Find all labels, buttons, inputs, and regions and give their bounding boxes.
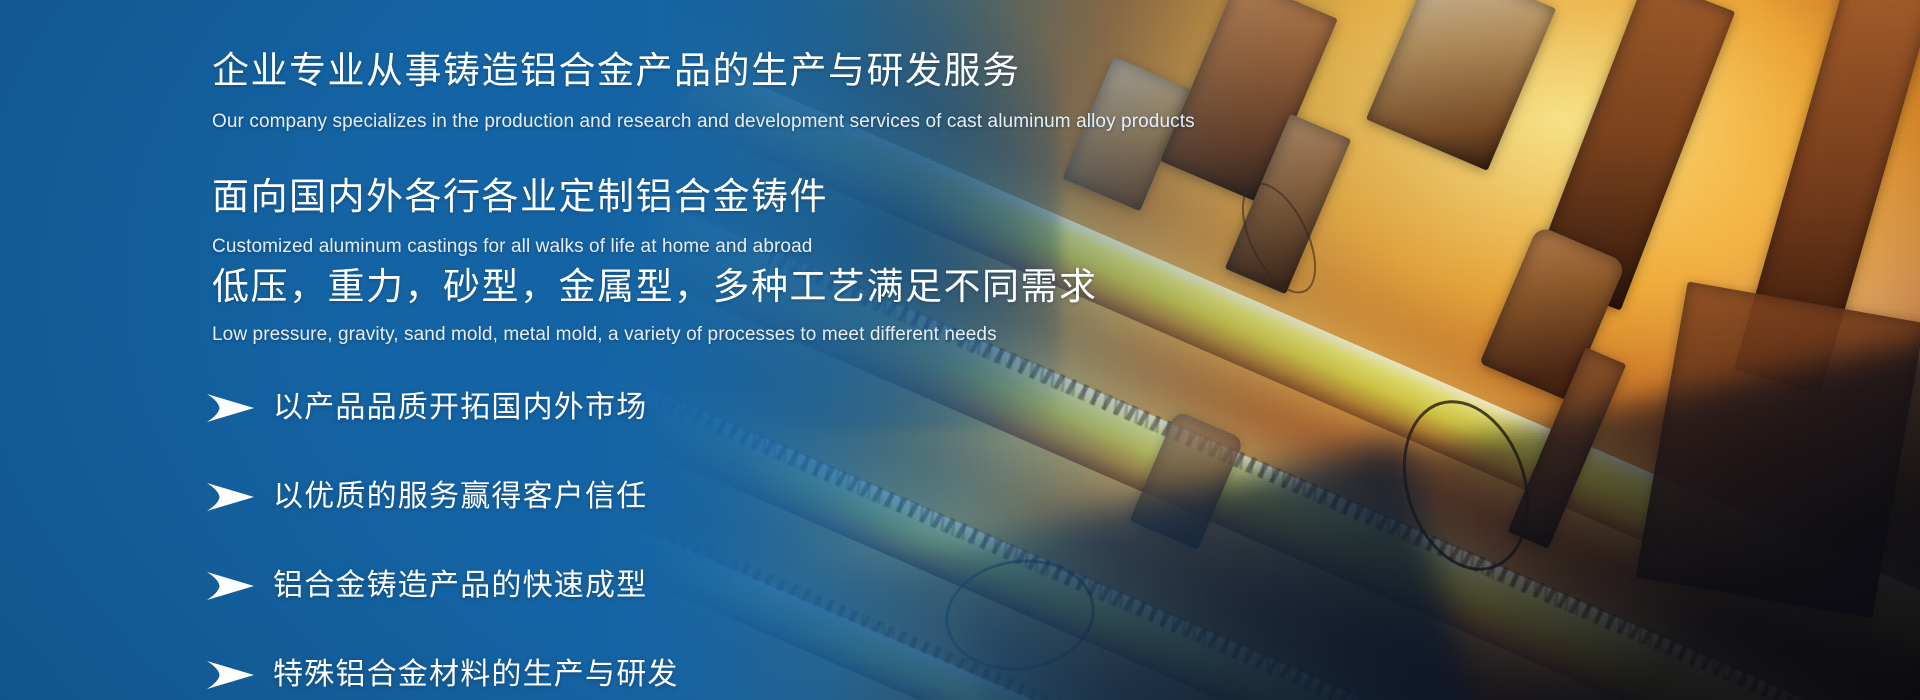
list-item: 特殊铝合金材料的生产与研发 [205, 652, 965, 697]
arrow-right-icon [205, 571, 255, 601]
list-item-label: 特殊铝合金材料的生产与研发 [273, 660, 679, 690]
list-item-label: 以优质的服务赢得客户信任 [273, 482, 647, 512]
banner-content: 企业专业从事铸造铝合金产品的生产与研发服务 Our company specia… [0, 0, 1920, 700]
list-item: 以产品品质开拓国内外市场 [205, 385, 965, 430]
heading-secondary-cn: 面向国内外各行各业定制铝合金铸件 [212, 178, 828, 215]
heading-tertiary-en: Low pressure, gravity, sand mold, metal … [212, 325, 997, 344]
list-item-label: 以产品品质开拓国内外市场 [273, 393, 647, 423]
heading-secondary-en: Customized aluminum castings for all wal… [212, 237, 812, 256]
hero-banner: 企业专业从事铸造铝合金产品的生产与研发服务 Our company specia… [0, 0, 1920, 700]
arrow-right-icon [205, 482, 255, 512]
arrow-right-icon [205, 660, 255, 690]
heading-tertiary-cn: 低压，重力，砂型，金属型，多种工艺满足不同需求 [212, 268, 1098, 305]
list-item: 以优质的服务赢得客户信任 [205, 474, 965, 519]
list-item-label: 铝合金铸造产品的快速成型 [273, 571, 647, 601]
heading-primary-en: Our company specializes in the productio… [212, 112, 1195, 131]
heading-primary-cn: 企业专业从事铸造铝合金产品的生产与研发服务 [212, 52, 1021, 89]
arrow-right-icon [205, 393, 255, 423]
list-item: 铝合金铸造产品的快速成型 [205, 563, 965, 608]
feature-list: 以产品品质开拓国内外市场 以优质的服务赢得客户信任 铝合金铸造产品的快速成型 [205, 385, 965, 697]
